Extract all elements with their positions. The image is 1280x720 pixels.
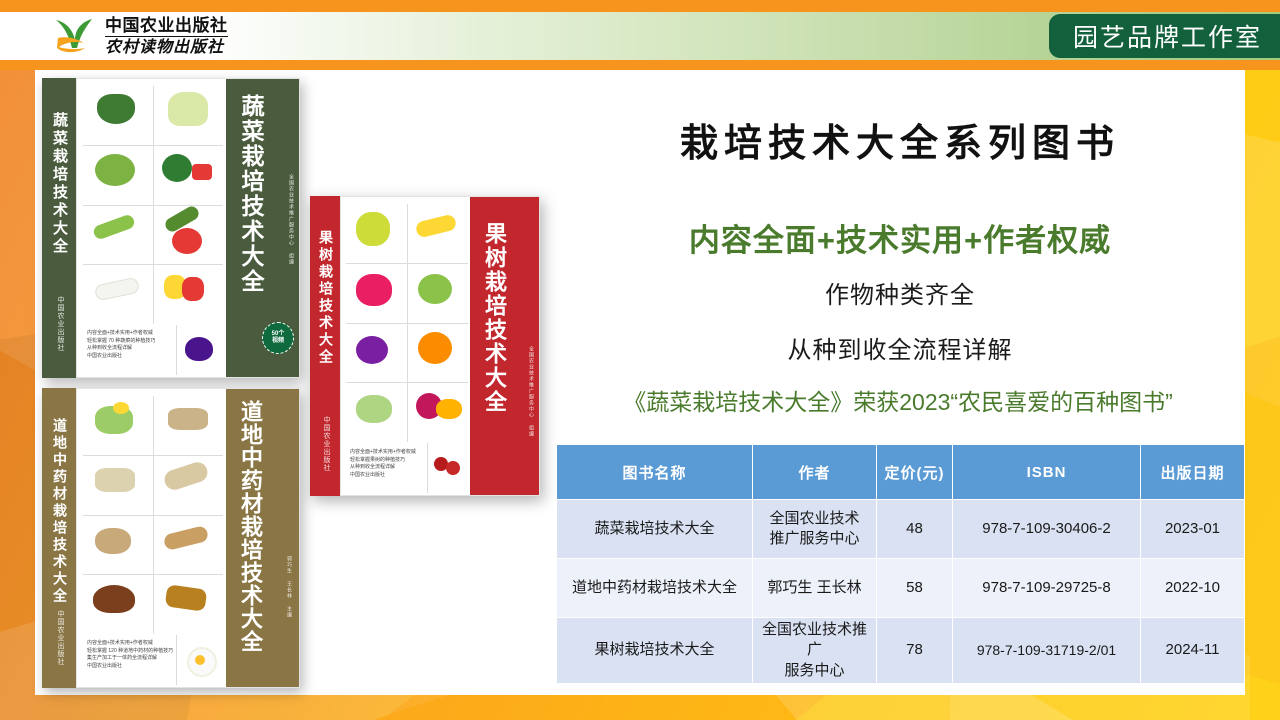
book-photo-cell (154, 265, 224, 324)
table-header-cell: 定价(元) (877, 445, 953, 500)
book-photo-cell (83, 456, 153, 515)
book-photo-cell (177, 325, 223, 375)
table-header-cell: 出版日期 (1141, 445, 1245, 500)
page-subtitle: 内容全面+技术实用+作者权威 (560, 215, 1240, 260)
book-footer-line: 内容全面+技术实用+作者权威 (350, 449, 416, 457)
book-photo-cell (83, 206, 153, 265)
award-line: 《蔬菜栽培技术大全》荣获2023“农民喜爱的百种图书” (548, 383, 1248, 417)
book-footer-line: 从种到收全流程详解 (87, 345, 155, 353)
book-footer-line: 内容全面+技术实用+作者权威 (87, 640, 173, 648)
book-photo-cell (177, 635, 223, 685)
publisher-name-primary: 中国农业出版社 (105, 17, 228, 37)
book-cover-fruit: 果树栽培技术大全 中国农业出版社 果树栽培技术大全 全国农业技术推广服务中心 组… (310, 196, 540, 496)
book-photo-cell (154, 575, 224, 634)
book-cover-vegetable: 蔬菜栽培技术大全 中国农业出版社 蔬菜栽培技术大全 全国农业技术推广服务中心 组… (42, 78, 300, 378)
book-front-editor: 郭巧生 王长林 主编 (286, 556, 293, 618)
cell-book-name: 果树栽培技术大全 (557, 618, 753, 684)
book-photo-cell (83, 396, 153, 455)
book-front-title: 果树栽培技术大全 (482, 222, 506, 414)
sprout-logo-icon (52, 16, 96, 56)
book-footer-line: 轻松掌握果树的种植技巧 (350, 457, 416, 465)
header-bottom-rule (0, 60, 1280, 70)
book-photo-cell (408, 204, 469, 263)
book-footer-cell: 内容全面+技术实用+作者权威 轻松掌握 120 种道地中药材的种植技巧 集生产加… (83, 635, 176, 685)
table-row: 道地中药材栽培技术大全 郭巧生 王长林 58 978-7-109-29725-8… (557, 559, 1245, 618)
book-photo-cell (154, 206, 224, 265)
cell-publish-date: 2023-01 (1141, 500, 1245, 559)
studio-badge: 园艺品牌工作室 (1049, 14, 1280, 58)
book-footer-line: 中国农业出版社 (87, 353, 155, 361)
book-photo-cell (346, 383, 407, 442)
cell-price: 48 (877, 500, 953, 559)
book-footer-line: 轻松掌握 120 种道地中药材的种植技巧 (87, 648, 173, 656)
cell-author: 全国农业技术推广 服务中心 (753, 618, 877, 684)
book-photo-cell (83, 86, 153, 145)
feature-line-2: 从种到收全流程详解 (560, 330, 1240, 365)
publisher-name-secondary: 农村读物出版社 (105, 40, 228, 56)
cell-isbn: 978-7-109-29725-8 (953, 559, 1141, 618)
book-front-title: 蔬菜栽培技术大全 (238, 94, 263, 294)
book-spine-title: 果树栽培技术大全 (317, 230, 332, 366)
studio-badge-label: 园艺品牌工作室 (1073, 18, 1262, 54)
page-title: 栽培技术大全系列图书 (560, 112, 1240, 167)
cell-price: 58 (877, 559, 953, 618)
book-footer-cell: 内容全面+技术实用+作者权威 轻松掌握 70 种蔬菜的种植技巧 从种到收全流程详… (83, 325, 176, 375)
book-photo-cell (83, 146, 153, 205)
cell-book-name: 道地中药材栽培技术大全 (557, 559, 753, 618)
book-spine-publisher: 中国农业出版社 (321, 416, 331, 472)
book-footer-line: 轻松掌握 70 种蔬菜的种植技巧 (87, 338, 155, 346)
feature-line-1: 作物种类齐全 (560, 275, 1240, 310)
table-header-row: 图书名称 作者 定价(元) ISBN 出版日期 (557, 445, 1245, 500)
book-footer-cell: 内容全面+技术实用+作者权威 轻松掌握果树的种植技巧 从种到收全流程详解 中国农… (346, 443, 427, 493)
book-photo-cell (154, 146, 224, 205)
books-table: 图书名称 作者 定价(元) ISBN 出版日期 蔬菜栽培技术大全 全国农业技术 … (556, 444, 1245, 684)
table-header-cell: 图书名称 (557, 445, 753, 500)
book-photo-cell (83, 265, 153, 324)
book-photo-cell (408, 264, 469, 323)
cell-isbn: 978-7-109-31719-2/01 (953, 618, 1141, 684)
table-header-cell: ISBN (953, 445, 1141, 500)
cell-price: 78 (877, 618, 953, 684)
book-spine-publisher: 中国农业出版社 (55, 610, 65, 666)
book-photo-cell (154, 396, 224, 455)
book-photo-cell (83, 516, 153, 575)
cell-author: 郭巧生 王长林 (753, 559, 877, 618)
book-photo-cell (346, 324, 407, 383)
book-footer-line: 从种到收全流程详解 (350, 464, 416, 472)
book-footer-line: 中国农业出版社 (350, 472, 416, 480)
book-front-editor: 全国农业技术推广服务中心 组编 (528, 346, 535, 437)
table-header-cell: 作者 (753, 445, 877, 500)
book-cover-herb: 道地中药材栽培技术大全 中国农业出版社 道地中药材栽培技术大全 郭巧生 王长林 … (42, 388, 300, 688)
cell-isbn: 978-7-109-30406-2 (953, 500, 1141, 559)
cell-author: 全国农业技术 推广服务中心 (753, 500, 877, 559)
book-photo-cell (83, 575, 153, 634)
book-photo-cell (154, 86, 224, 145)
book-photo-cell (346, 204, 407, 263)
book-photo-cell (408, 383, 469, 442)
book-photo-cell (346, 264, 407, 323)
slide-root: 中国农业出版社 农村读物出版社 园艺品牌工作室 蔬菜栽培技术大全 中国农业出版社… (0, 0, 1280, 720)
publisher-logo: 中国农业出版社 农村读物出版社 (52, 16, 228, 56)
book-spine-title: 蔬菜栽培技术大全 (51, 112, 67, 256)
book-front-title: 道地中药材栽培技术大全 (238, 400, 262, 653)
book-footer-line: 中国农业出版社 (87, 663, 173, 671)
book-footer-line: 集生产加工于一体药全流程详解 (87, 655, 173, 663)
table-row: 蔬菜栽培技术大全 全国农业技术 推广服务中心 48 978-7-109-3040… (557, 500, 1245, 559)
book-front-editor: 全国农业技术推广服务中心 组编 (288, 174, 295, 265)
cell-publish-date: 2024-11 (1141, 618, 1245, 684)
book-video-badge: 50个视频 (262, 322, 294, 354)
table-row: 果树栽培技术大全 全国农业技术推广 服务中心 78 978-7-109-3171… (557, 618, 1245, 684)
book-footer-line: 内容全面+技术实用+作者权威 (87, 330, 155, 338)
book-spine-title: 道地中药材栽培技术大全 (51, 418, 66, 605)
book-photo-cell (154, 516, 224, 575)
book-spine-publisher: 中国农业出版社 (55, 296, 65, 352)
book-photo-cell (428, 443, 468, 493)
cell-book-name: 蔬菜栽培技术大全 (557, 500, 753, 559)
cell-publish-date: 2022-10 (1141, 559, 1245, 618)
header-top-rule (0, 0, 1280, 12)
book-photo-cell (408, 324, 469, 383)
book-photo-cell (154, 456, 224, 515)
